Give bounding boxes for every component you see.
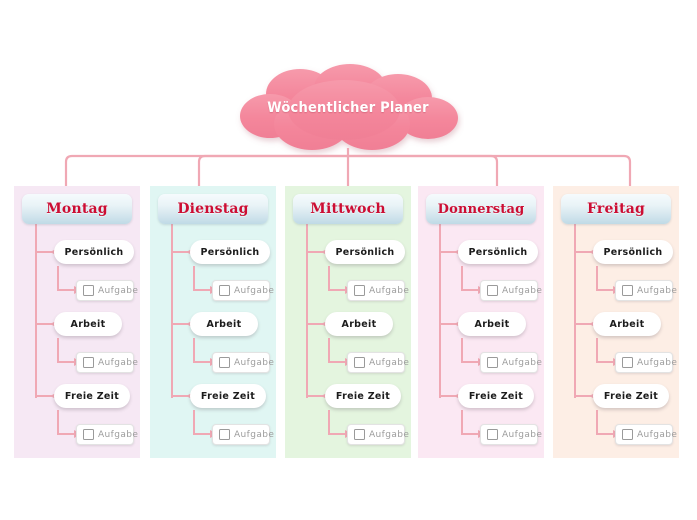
day-header-mittwoch[interactable]: Mittwoch (293, 194, 403, 224)
category-label: Freie Zeit (65, 391, 119, 402)
day-column-montag[interactable]: Montag Persönlich Aufgabe Arbeit Aufgabe… (14, 186, 140, 458)
task-box-persoenlich[interactable]: Aufgabe (615, 280, 673, 301)
task-label: Aufgabe (637, 430, 677, 440)
day-header-label: Dienstag (177, 201, 248, 217)
task-label: Aufgabe (234, 358, 274, 368)
task-checkbox-icon[interactable] (354, 285, 365, 296)
task-label: Aufgabe (98, 430, 138, 440)
category-label: Arbeit (71, 319, 106, 330)
task-box-freie-zeit[interactable]: Aufgabe (480, 424, 538, 445)
task-checkbox-icon[interactable] (219, 429, 230, 440)
day-header-freitag[interactable]: Freitag (561, 194, 671, 224)
task-checkbox-icon[interactable] (354, 429, 365, 440)
task-label: Aufgabe (502, 430, 542, 440)
day-column-dienstag[interactable]: Dienstag Persönlich Aufgabe Arbeit Aufga… (150, 186, 276, 458)
task-label: Aufgabe (502, 286, 542, 296)
category-pill-freie-zeit[interactable]: Freie Zeit (190, 384, 266, 408)
task-checkbox-icon[interactable] (83, 285, 94, 296)
task-label: Aufgabe (369, 430, 409, 440)
category-label: Arbeit (610, 319, 645, 330)
category-pill-freie-zeit[interactable]: Freie Zeit (325, 384, 401, 408)
root-node-weekly-planner[interactable]: Wöchentlicher Planer (232, 62, 464, 158)
category-label: Persönlich (336, 247, 395, 258)
category-label: Arbeit (342, 319, 377, 330)
task-label: Aufgabe (98, 286, 138, 296)
task-checkbox-icon[interactable] (487, 357, 498, 368)
category-label: Freie Zeit (469, 391, 523, 402)
task-label: Aufgabe (369, 358, 409, 368)
category-pill-persoenlich[interactable]: Persönlich (325, 240, 405, 264)
category-pill-arbeit[interactable]: Arbeit (593, 312, 661, 336)
task-box-freie-zeit[interactable]: Aufgabe (347, 424, 405, 445)
task-box-persoenlich[interactable]: Aufgabe (212, 280, 270, 301)
task-checkbox-icon[interactable] (622, 357, 633, 368)
category-pill-freie-zeit[interactable]: Freie Zeit (54, 384, 130, 408)
task-label: Aufgabe (502, 358, 542, 368)
task-checkbox-icon[interactable] (219, 285, 230, 296)
category-label: Arbeit (207, 319, 242, 330)
task-box-persoenlich[interactable]: Aufgabe (480, 280, 538, 301)
task-checkbox-icon[interactable] (487, 285, 498, 296)
category-pill-arbeit[interactable]: Arbeit (54, 312, 122, 336)
category-label: Arbeit (475, 319, 510, 330)
category-pill-persoenlich[interactable]: Persönlich (190, 240, 270, 264)
task-label: Aufgabe (98, 358, 138, 368)
category-pill-persoenlich[interactable]: Persönlich (54, 240, 134, 264)
category-label: Persönlich (201, 247, 260, 258)
task-box-freie-zeit[interactable]: Aufgabe (212, 424, 270, 445)
task-checkbox-icon[interactable] (83, 357, 94, 368)
day-column-mittwoch[interactable]: Mittwoch Persönlich Aufgabe Arbeit Aufga… (285, 186, 411, 458)
task-box-arbeit[interactable]: Aufgabe (76, 352, 134, 373)
task-box-freie-zeit[interactable]: Aufgabe (615, 424, 673, 445)
category-label: Freie Zeit (336, 391, 390, 402)
mindmap-canvas: Wöchentlicher Planer (0, 0, 697, 520)
day-header-label: Montag (46, 201, 108, 217)
day-header-montag[interactable]: Montag (22, 194, 132, 224)
task-box-arbeit[interactable]: Aufgabe (347, 352, 405, 373)
task-label: Aufgabe (369, 286, 409, 296)
category-pill-arbeit[interactable]: Arbeit (325, 312, 393, 336)
day-column-freitag[interactable]: Freitag Persönlich Aufgabe Arbeit Aufgab… (553, 186, 679, 458)
category-pill-persoenlich[interactable]: Persönlich (458, 240, 538, 264)
task-box-persoenlich[interactable]: Aufgabe (76, 280, 134, 301)
category-pill-freie-zeit[interactable]: Freie Zeit (458, 384, 534, 408)
root-title: Wöchentlicher Planer (232, 100, 464, 116)
category-pill-arbeit[interactable]: Arbeit (458, 312, 526, 336)
task-checkbox-icon[interactable] (487, 429, 498, 440)
day-column-donnerstag[interactable]: Donnerstag Persönlich Aufgabe Arbeit Auf… (418, 186, 544, 458)
day-header-dienstag[interactable]: Dienstag (158, 194, 268, 224)
task-checkbox-icon[interactable] (83, 429, 94, 440)
task-label: Aufgabe (637, 358, 677, 368)
task-box-arbeit[interactable]: Aufgabe (615, 352, 673, 373)
task-box-freie-zeit[interactable]: Aufgabe (76, 424, 134, 445)
day-header-donnerstag[interactable]: Donnerstag (426, 194, 536, 224)
category-label: Freie Zeit (201, 391, 255, 402)
category-label: Persönlich (65, 247, 124, 258)
category-label: Persönlich (604, 247, 663, 258)
task-label: Aufgabe (234, 430, 274, 440)
category-label: Persönlich (469, 247, 528, 258)
category-pill-arbeit[interactable]: Arbeit (190, 312, 258, 336)
task-box-persoenlich[interactable]: Aufgabe (347, 280, 405, 301)
category-pill-persoenlich[interactable]: Persönlich (593, 240, 673, 264)
category-pill-freie-zeit[interactable]: Freie Zeit (593, 384, 669, 408)
task-box-arbeit[interactable]: Aufgabe (212, 352, 270, 373)
task-checkbox-icon[interactable] (219, 357, 230, 368)
day-header-label: Freitag (587, 201, 645, 217)
task-checkbox-icon[interactable] (622, 285, 633, 296)
task-box-arbeit[interactable]: Aufgabe (480, 352, 538, 373)
task-label: Aufgabe (234, 286, 274, 296)
category-label: Freie Zeit (604, 391, 658, 402)
task-checkbox-icon[interactable] (354, 357, 365, 368)
task-label: Aufgabe (637, 286, 677, 296)
day-header-label: Donnerstag (438, 202, 525, 217)
day-header-label: Mittwoch (310, 201, 385, 217)
task-checkbox-icon[interactable] (622, 429, 633, 440)
